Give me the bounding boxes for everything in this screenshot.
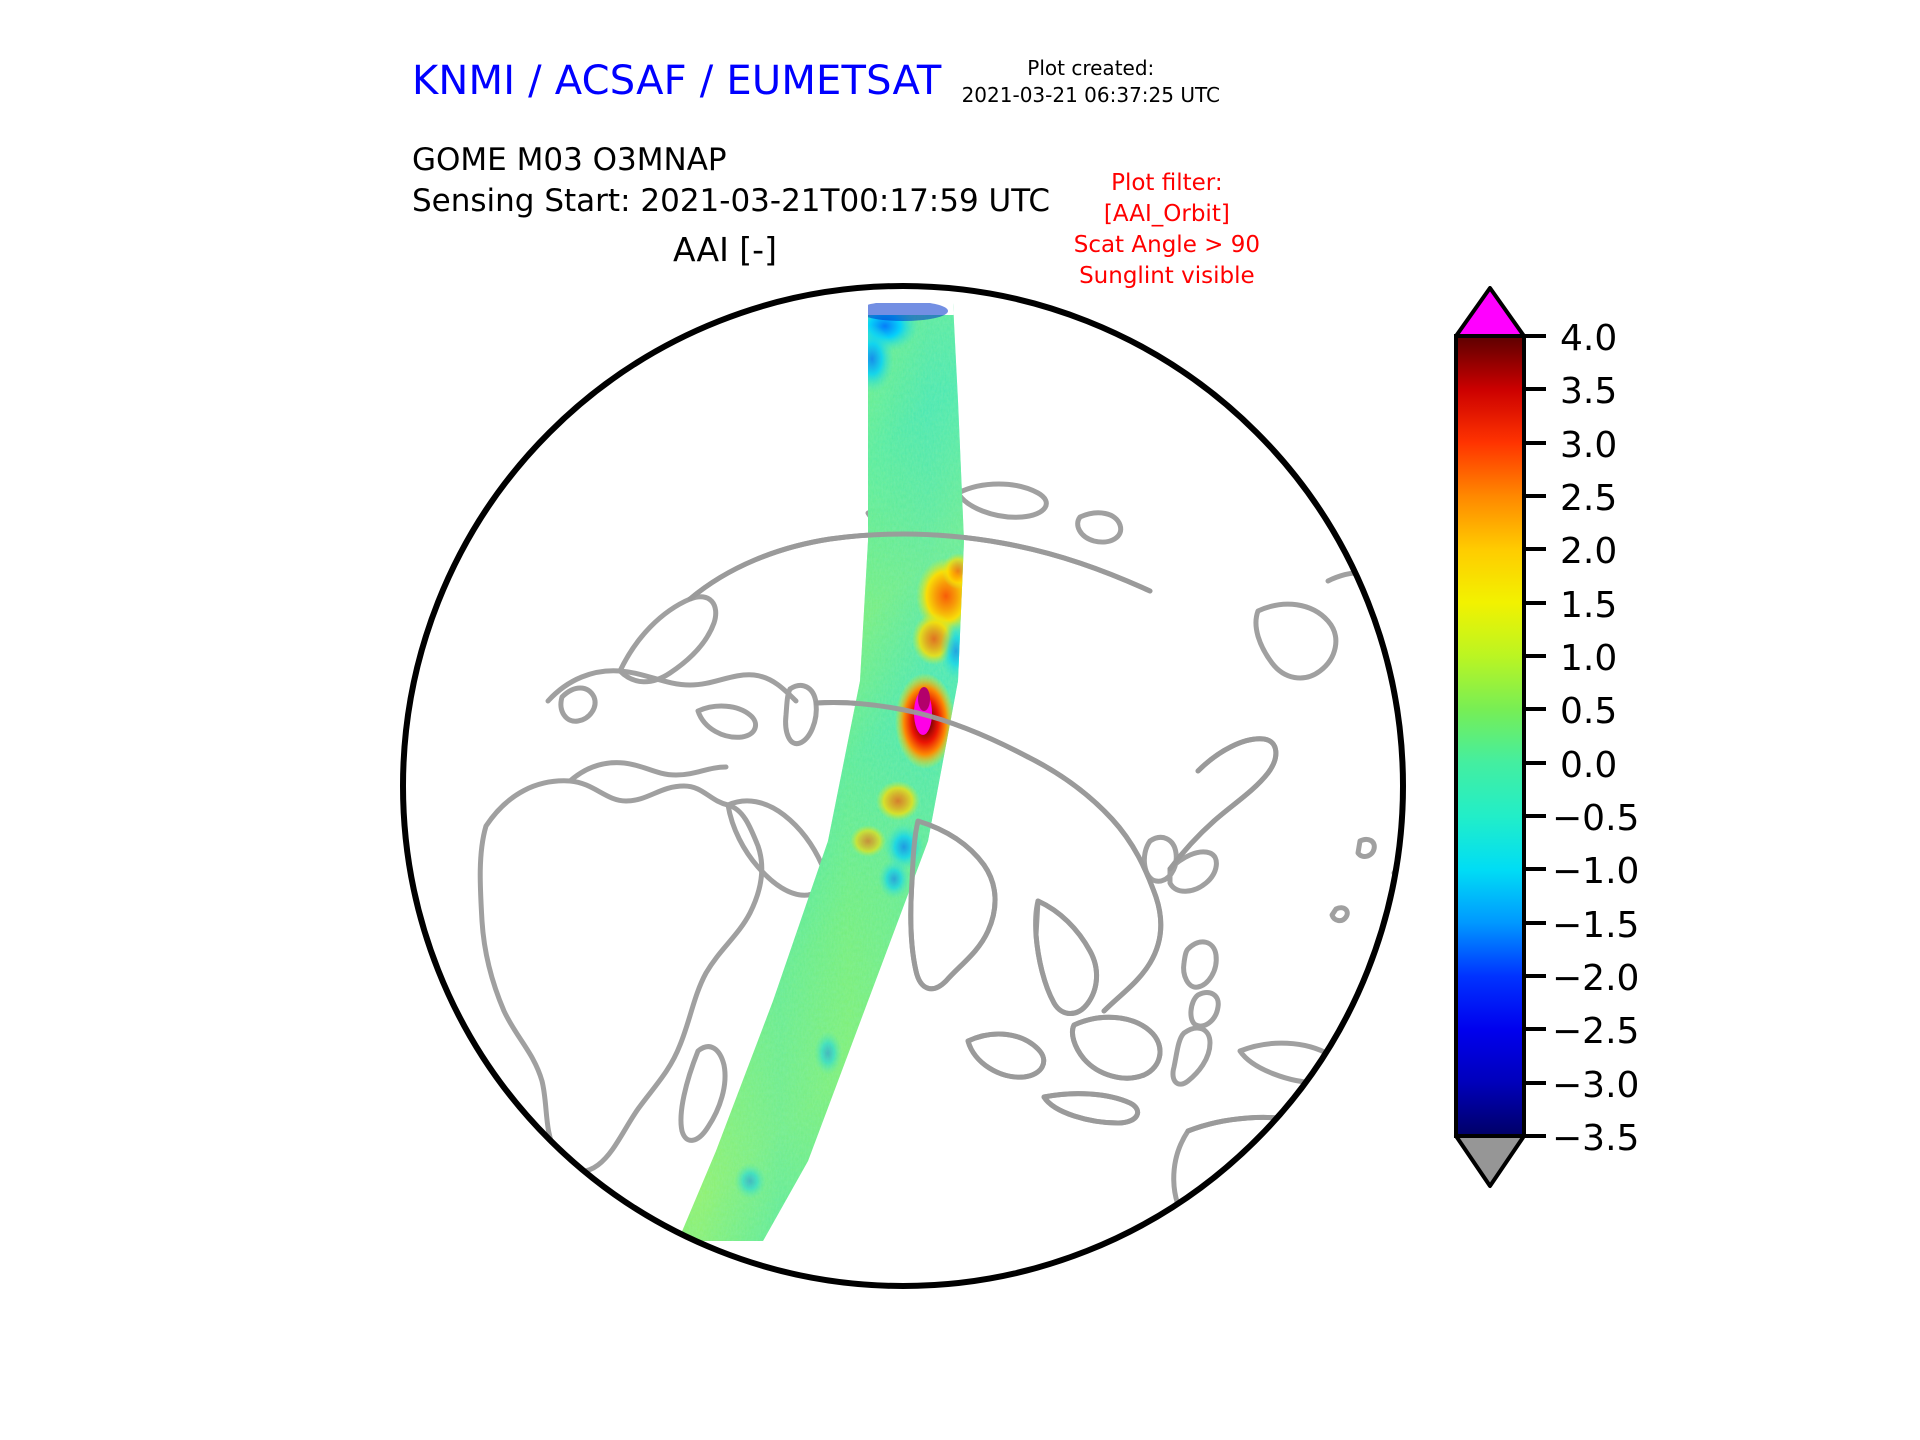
colorbar-ticks <box>1524 336 1546 1136</box>
colorbar-tick-label: 2.0 <box>1560 531 1617 572</box>
colorbar-over-arrow <box>1456 288 1524 336</box>
colorbar-tick-labels: 4.0 3.5 3.0 2.5 2.0 1.5 1.0 0.5 0.0 −0.5… <box>1552 318 1639 1159</box>
product-info-block: GOME M03 O3MNAP Sensing Start: 2021-03-2… <box>412 140 1050 222</box>
colorbar-tick-label: 0.5 <box>1560 691 1617 732</box>
product-name: GOME M03 O3MNAP <box>412 140 1050 181</box>
colorbar-tick-label: 0.0 <box>1560 745 1617 786</box>
colorbar-tick-label: 3.0 <box>1560 425 1617 466</box>
colorbar-tick-label: 2.5 <box>1560 478 1617 519</box>
colorbar-tick-label: −3.0 <box>1552 1065 1639 1106</box>
plot-filter-dataset: [AAI_Orbit] <box>1074 199 1260 230</box>
colorbar-tick-label: −1.0 <box>1552 851 1639 892</box>
colorbar-tick-label: 1.5 <box>1560 585 1617 626</box>
colorbar-bar <box>1456 336 1524 1136</box>
plot-created-timestamp: 2021-03-21 06:37:25 UTC <box>962 82 1220 109</box>
colorbar-tick-label: −2.0 <box>1552 958 1639 999</box>
colorbar-tick-label: −1.5 <box>1552 905 1639 946</box>
plot-page: KNMI / ACSAF / EUMETSAT Plot created: 20… <box>0 0 1920 1440</box>
globe-map <box>398 281 1408 1291</box>
plot-filter-label: Plot filter: <box>1074 168 1260 199</box>
organization-banner: KNMI / ACSAF / EUMETSAT <box>412 58 942 104</box>
colorbar-tick-label: −0.5 <box>1552 798 1639 839</box>
colorbar-tick-label: 3.5 <box>1560 371 1617 412</box>
colorbar-tick-label: 1.0 <box>1560 638 1617 679</box>
plot-created-block: Plot created: 2021-03-21 06:37:25 UTC <box>962 55 1220 109</box>
colorbar-under-arrow <box>1456 1136 1524 1186</box>
plot-created-label: Plot created: <box>962 55 1220 82</box>
sensing-start: Sensing Start: 2021-03-21T00:17:59 UTC <box>412 181 1050 222</box>
chart-title: AAI [-] <box>0 230 1450 269</box>
colorbar: 4.0 3.5 3.0 2.5 2.0 1.5 1.0 0.5 0.0 −0.5… <box>1442 286 1692 1326</box>
colorbar-tick-label: −2.5 <box>1552 1011 1639 1052</box>
colorbar-tick-label: −3.5 <box>1552 1118 1639 1159</box>
colorbar-tick-label: 4.0 <box>1560 318 1617 359</box>
